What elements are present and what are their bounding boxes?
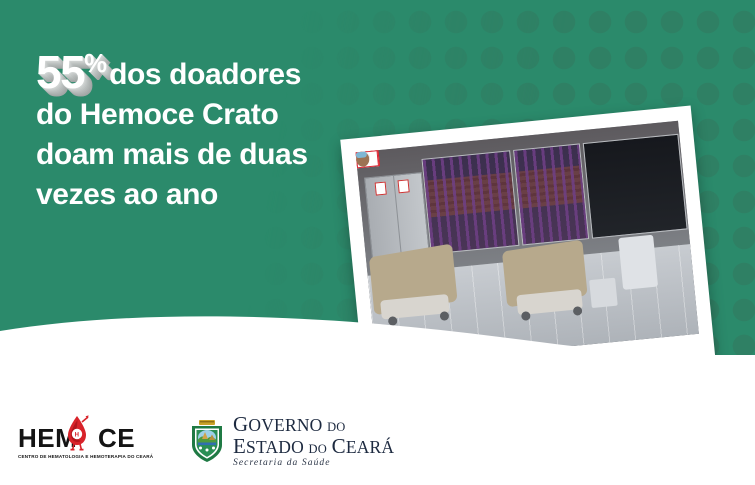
gov-l2-b: STADO (246, 437, 304, 457)
blood-drop-mascot-icon: H (65, 415, 89, 451)
percent-value: 55 (36, 46, 84, 98)
hemoce-tagline: CENTRO DE HEMATOLOGIA E HEMOTERAPIA DO C… (18, 454, 146, 459)
gov-l1-b: OVERNO (248, 415, 322, 435)
percent-symbol: % (84, 50, 106, 78)
hemoce-word-part2: CE (98, 423, 135, 453)
scene-medical-equipment (618, 235, 658, 290)
svg-text:H: H (75, 432, 80, 438)
gov-l2-e: EARÁ (346, 437, 394, 457)
headline-line-3: doam mais de duas (36, 135, 396, 175)
scene-window-right (583, 134, 688, 239)
poster-canvas: 55%dos doadores do Hemoce Crato doam mai… (0, 0, 755, 485)
headline-line-1-rest: dos doadores (109, 58, 301, 91)
footer-wave-divider (0, 309, 755, 369)
footer-logos: HEMOCE H CENTRO DE HEMATOLOGIA E HEMOTER… (0, 397, 755, 485)
government-line-2: ESTADO DO CEARÁ (233, 435, 394, 457)
government-logo: GOVERNO DO ESTADO DO CEARÁ Secretaria da… (190, 413, 394, 469)
headline-line-1: 55%dos doadores (36, 52, 396, 95)
gov-l1-a: G (233, 412, 248, 436)
scene-window-left (421, 150, 519, 254)
government-subtitle: Secretaria da Saúde (233, 459, 394, 469)
headline-line-2: do Hemoce Crato (36, 95, 396, 135)
gov-l2-c: DO (309, 442, 327, 456)
scene-window-bars (422, 151, 518, 253)
hemoce-logo: HEMOCE H CENTRO DE HEMATOLOGIA E HEMOTER… (18, 424, 146, 459)
page-title: 55%dos doadores do Hemoce Crato doam mai… (36, 52, 396, 215)
ceara-coat-of-arms-icon (190, 419, 224, 463)
government-wordmark: GOVERNO DO ESTADO DO CEARÁ Secretaria da… (233, 413, 394, 469)
government-line-1: GOVERNO DO (233, 413, 394, 435)
headline-line-4: vezes ao ano (36, 175, 396, 215)
gov-l1-c: DO (327, 420, 345, 434)
gov-l2-d: C (332, 434, 346, 458)
hemoce-wordmark: HEMOCE H (18, 424, 146, 452)
scene-wall-sign-2 (397, 179, 409, 193)
scene-window-bars-2 (514, 144, 588, 244)
scene-window-mid (513, 143, 589, 245)
gov-l2-a: E (233, 434, 246, 458)
scene-waste-bin (589, 277, 617, 307)
percent-figure: 55% (36, 52, 106, 93)
